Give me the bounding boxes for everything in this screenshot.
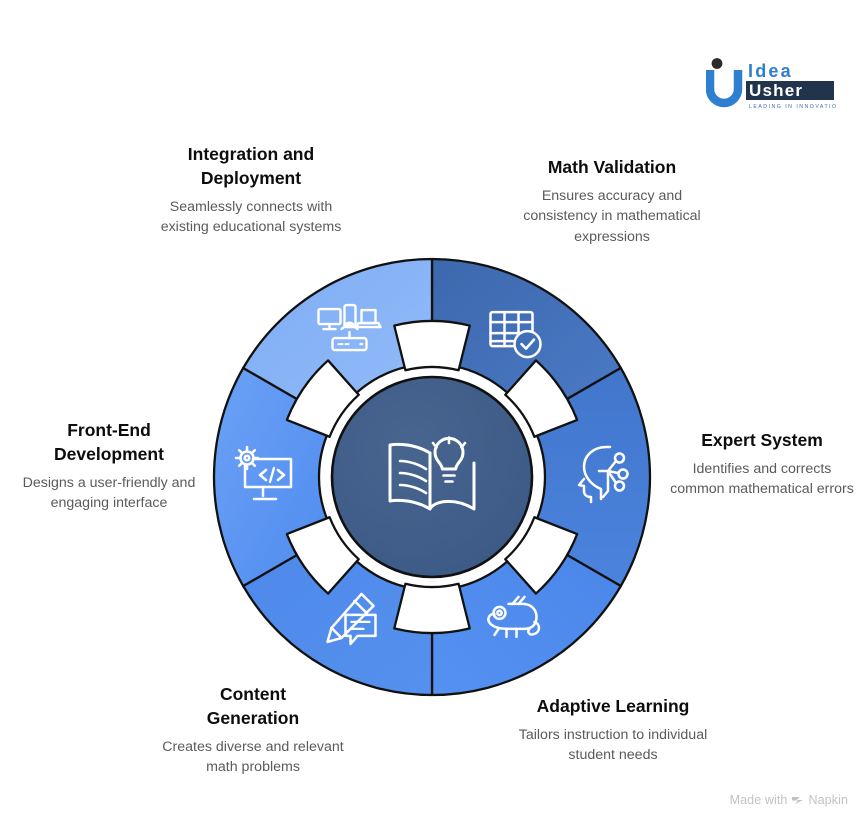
- label-content-generation: Content Generation Creates diverse and r…: [148, 683, 358, 777]
- label-title: Front-End Development: [6, 419, 212, 467]
- label-front-end-development: Front-End Development Designs a user-fri…: [6, 419, 212, 513]
- watermark-prefix: Made with: [730, 793, 788, 807]
- label-description: Identifies and corrects common mathemati…: [664, 459, 860, 499]
- label-description: Tailors instruction to individual studen…: [505, 725, 721, 765]
- logo-dot-icon: [712, 58, 723, 69]
- logo-u-icon: [710, 70, 738, 103]
- label-integration-and-deployment: Integration and Deployment Seamlessly co…: [145, 143, 357, 238]
- made-with-napkin-watermark[interactable]: Made with Napkin: [730, 793, 848, 807]
- logo-tagline: LEADING IN INNOVATION: [749, 104, 836, 110]
- label-description: Designs a user-friendly and engaging int…: [6, 473, 212, 513]
- napkin-logo-icon: [791, 794, 804, 806]
- label-title: Content Generation: [148, 683, 358, 731]
- logo-name-line2: Usher: [749, 81, 803, 100]
- label-title: Expert System: [664, 429, 860, 453]
- label-description: Creates diverse and relevant math proble…: [148, 737, 358, 777]
- label-adaptive-learning: Adaptive Learning Tailors instruction to…: [505, 695, 721, 765]
- label-math-validation: Math Validation Ensures accuracy and con…: [506, 156, 718, 248]
- watermark-brand: Napkin: [808, 793, 848, 807]
- label-title: Integration and Deployment: [145, 143, 357, 191]
- label-expert-system: Expert System Identifies and corrects co…: [664, 429, 860, 499]
- label-title: Math Validation: [506, 156, 718, 180]
- label-description: Seamlessly connects with existing educat…: [145, 197, 357, 238]
- hub-circle[interactable]: [332, 377, 532, 577]
- label-title: Adaptive Learning: [505, 695, 721, 719]
- logo-name-line1: Idea: [748, 61, 793, 81]
- brand-logo: Idea Usher LEADING IN INNOVATION: [706, 56, 836, 114]
- cycle-diagram: [214, 255, 650, 705]
- label-description: Ensures accuracy and consistency in math…: [506, 186, 718, 248]
